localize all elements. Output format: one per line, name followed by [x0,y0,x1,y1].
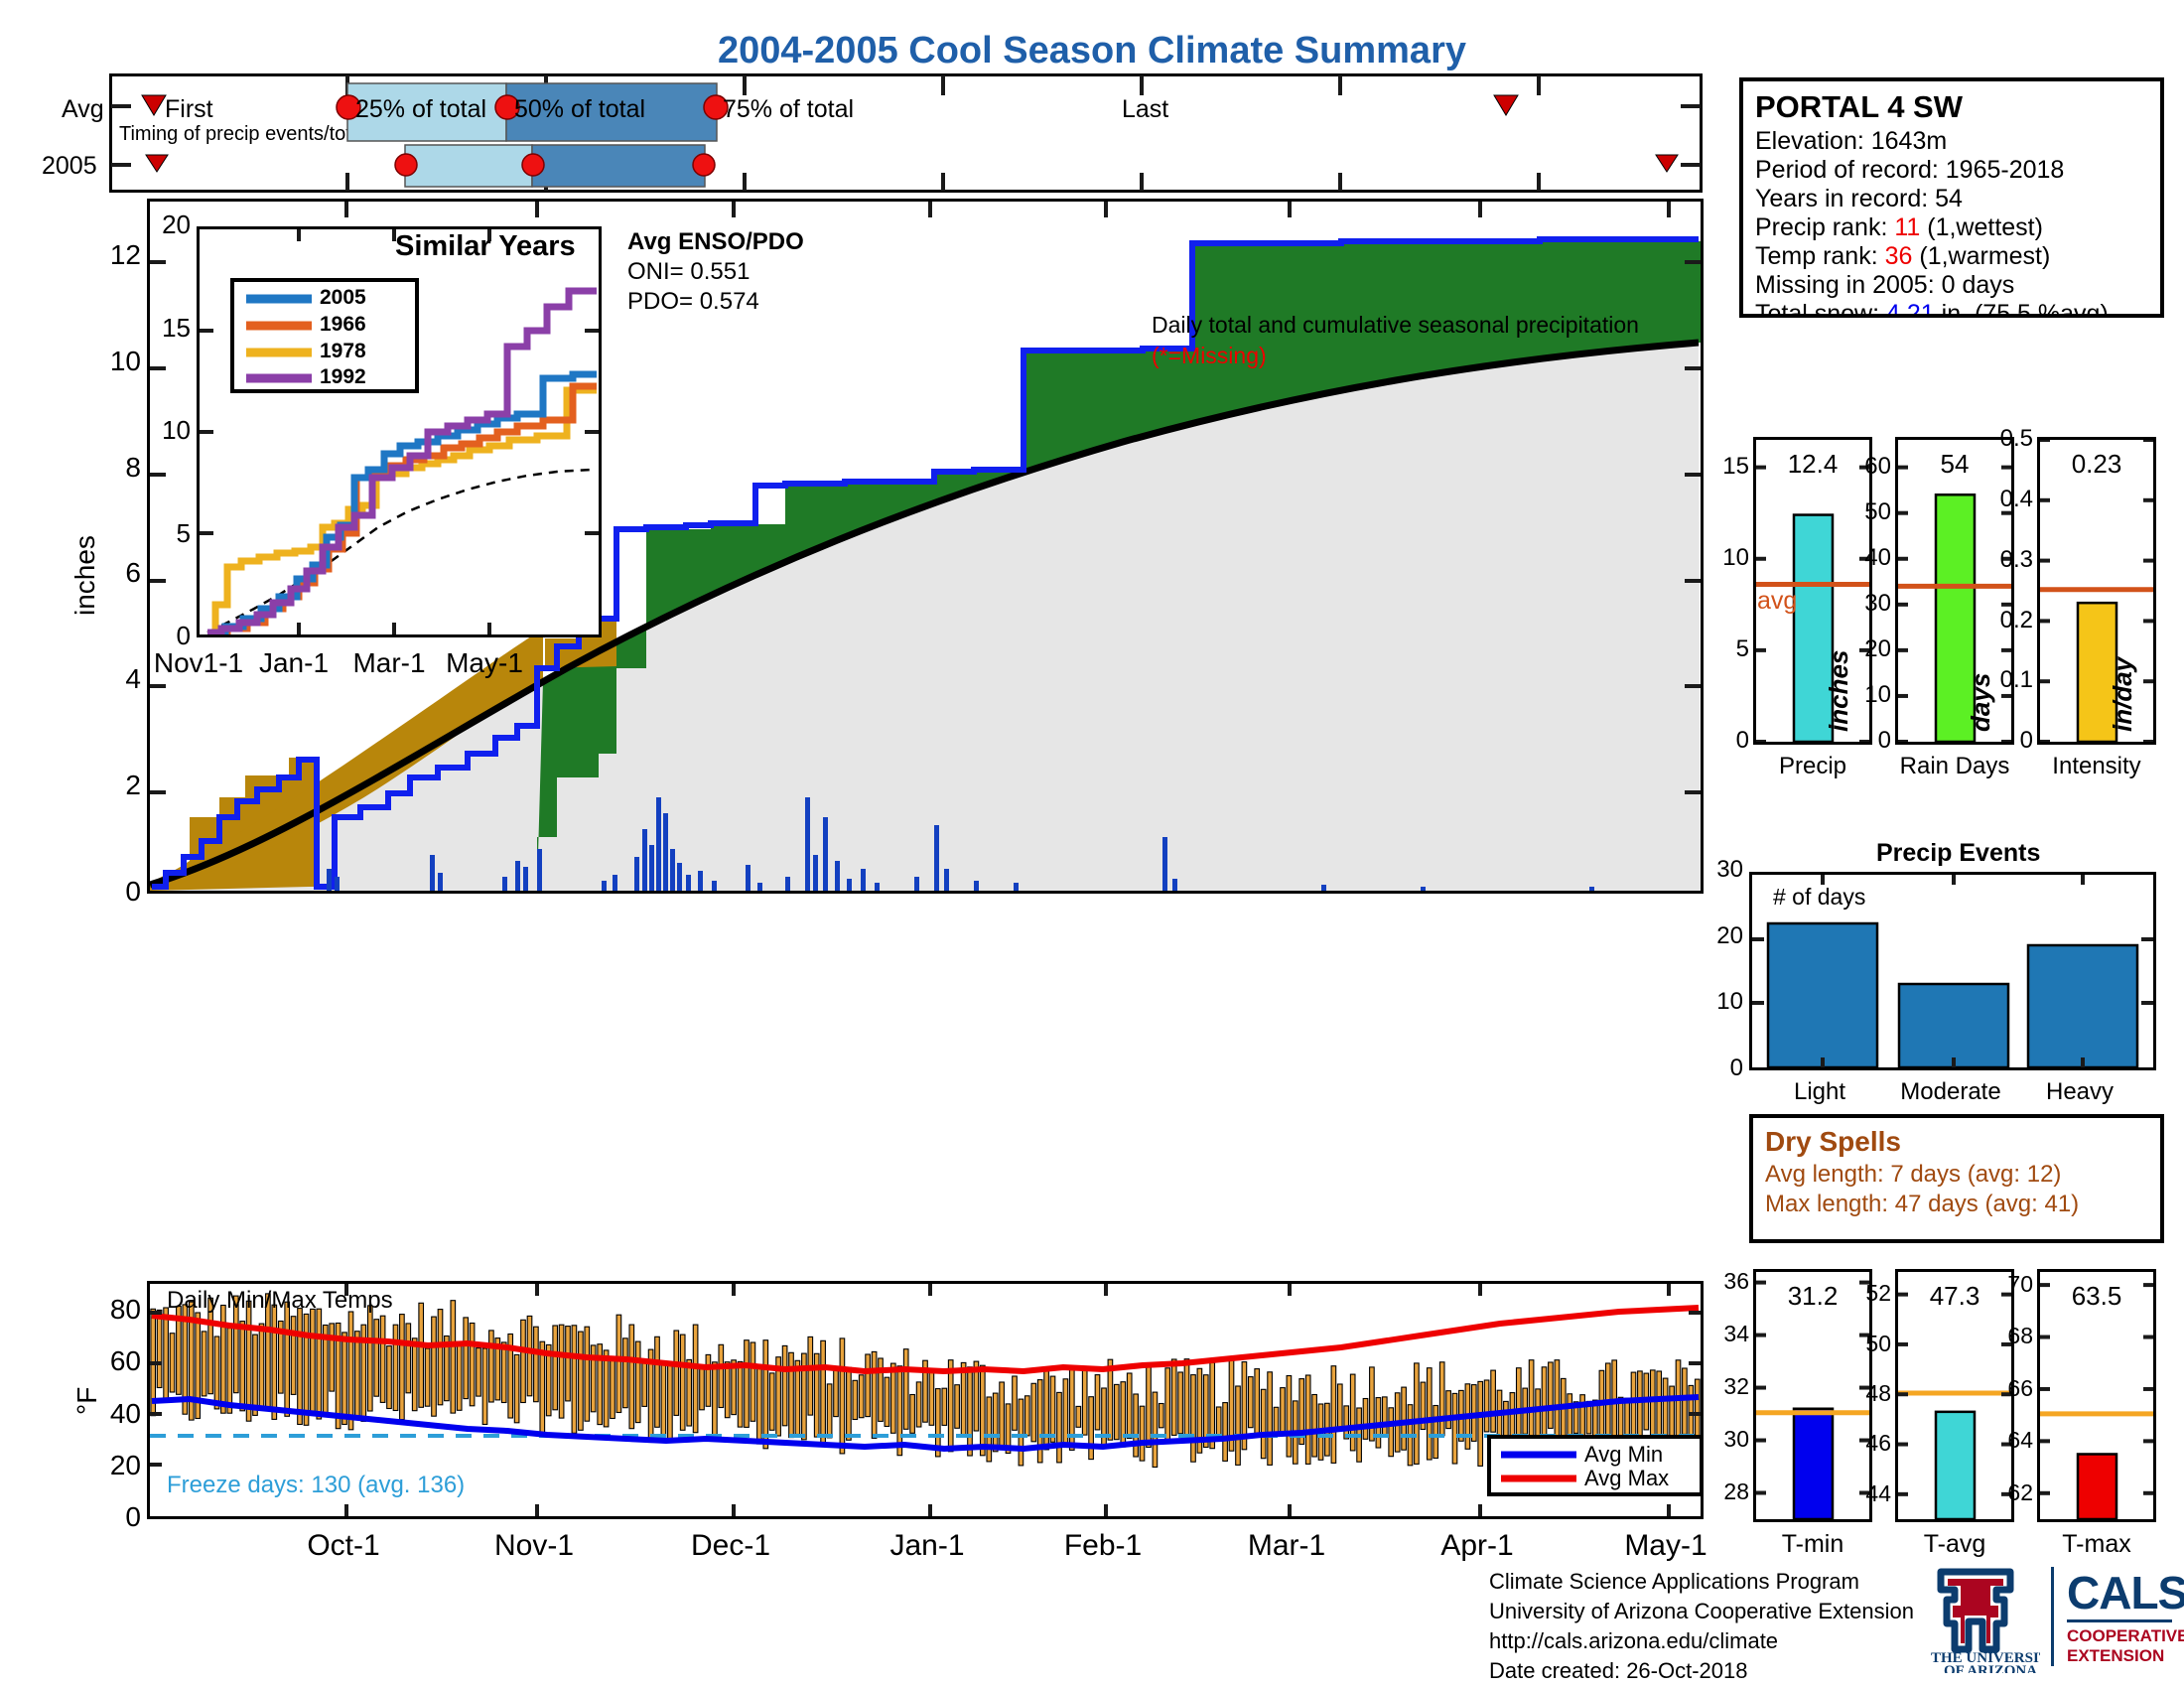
daily-temp-range-bar [393,1325,398,1410]
dry-spells-max: Max length: 47 days (avg: 41) [1765,1190,2160,1219]
daily-temp-range-bar [1478,1381,1483,1466]
pe-ytick-10: 10 [1716,988,1743,1016]
daily-temp-range-bar [840,1338,845,1454]
mini-value-T-avg: 47.3 [1930,1281,1980,1312]
mini-bar [1936,1412,1975,1519]
mini-ytick-Intensity-0.4: 0.4 [2000,486,2033,513]
station-line-value: 36 [1885,242,1913,270]
temp-legend: Avg Min Avg Max [1487,1435,1704,1496]
mini-category-T-max: T-max [2062,1530,2130,1559]
daily-temp-range-bar [635,1341,640,1423]
enso-oni-value: 0.551 [690,258,750,285]
station-name: PORTAL 4 SW [1755,89,2160,125]
footer-line-2[interactable]: http://cals.arizona.edu/climate [1489,1626,1914,1656]
xtick-Feb-1: Feb-1 [1064,1529,1142,1563]
inset-xtick-Jan-1: Jan-1 [259,647,329,679]
legend-label-1978: 1978 [320,340,366,363]
daily-temp-range-bar [1268,1372,1273,1466]
main-ytick-6: 6 [125,557,141,589]
mini-ytick-T-min-36: 36 [1723,1268,1749,1295]
daily-temp-range-bar [457,1341,462,1410]
legend-label-1966: 1966 [320,313,366,337]
daily-temp-range-bar [611,1357,615,1419]
main-chart-annotation: Daily total and cumulative seasonal prec… [1152,312,1639,339]
daily-temp-range-bar [1370,1367,1375,1441]
mini-value-Intensity: 0.23 [2072,449,2122,480]
dry-spells-avg: Avg length: 7 days (avg: 12) [1765,1160,2160,1190]
timing-row-label-avg: Avg [62,95,104,124]
daily-temp-range-bar [1089,1397,1094,1460]
daily-temp-range-bar [1312,1395,1317,1458]
daily-temp-range-bar [1127,1373,1132,1439]
daily-temp-range-bar [1338,1384,1343,1430]
timing-label-q25: 25% of total [355,95,486,124]
mini-ytick-T-avg-44: 44 [1865,1480,1891,1507]
footer-line-3: Date created: 26-Oct-2018 [1489,1656,1914,1686]
inset-ytick-10: 10 [162,415,191,446]
daily-temp-range-bar [240,1322,245,1411]
dry-spells-title: Dry Spells [1765,1126,2160,1158]
daily-temp-range-bar [1446,1391,1451,1429]
daily-temp-range-bar [987,1397,992,1462]
mini-bar [2078,1454,2116,1519]
mini-value-T-min: 31.2 [1788,1281,1839,1312]
station-line-3: Precip rank: 11 (1,wettest) [1755,213,2160,242]
main-ytick-4: 4 [125,663,141,695]
daily-temp-range-bar [298,1309,303,1425]
daily-temp-range-bar [477,1348,481,1397]
dry-spells-box: Dry Spells Avg length: 7 days (avg: 12) … [1749,1114,2164,1243]
daily-temp-range-bar [942,1388,947,1425]
enso-pdo: PDO= 0.574 [627,288,759,316]
daily-temp-range-bar [1415,1363,1420,1465]
daily-temp-range-bar [1076,1406,1081,1427]
daily-temp-range-bar [1095,1375,1100,1430]
daily-temp-range-bar [425,1348,430,1406]
daily-temp-range-bar [757,1364,762,1444]
daily-temp-range-bar [1383,1397,1388,1436]
temp-ytick-60: 60 [110,1345,141,1377]
pe-ytick-30: 30 [1716,856,1743,884]
mini-ytick-T-avg-46: 46 [1865,1430,1891,1457]
xtick-May-1: May-1 [1624,1529,1706,1563]
daily-temp-range-bar [719,1344,724,1407]
mini-category-T-avg: T-avg [1924,1530,1986,1559]
daily-temp-range-bar [885,1377,889,1426]
daily-temp-range-bar [157,1310,162,1387]
mini-ytick-Rain Days-10: 10 [1864,681,1891,709]
mini-category-T-min: T-min [1782,1530,1844,1559]
station-line-suffix: (1,warmest) [1912,242,2050,270]
inset-ytick-20: 20 [162,210,191,240]
mini-ytick-Precip-10: 10 [1722,544,1749,572]
mini-category-Precip: Precip [1779,753,1846,780]
enso-title: Avg ENSO/PDO [627,228,804,256]
mini-ytick-T-avg-50: 50 [1865,1331,1891,1357]
daily-temp-range-bar [789,1352,794,1437]
logo-divider [2051,1567,2054,1666]
main-ytick-10: 10 [110,346,141,377]
timing-label-q50: 50% of total [514,95,645,124]
xtick-Apr-1: Apr-1 [1440,1529,1513,1563]
mini-unit-inches: inches [1824,650,1854,732]
mini-ytick-T-min-32: 32 [1723,1373,1749,1400]
daily-temp-range-bar [616,1315,621,1412]
daily-temp-range-bar [642,1359,647,1406]
pe-xtick-Light: Light [1794,1078,1845,1106]
daily-temp-range-bar [687,1359,692,1426]
mini-ytick-Rain Days-40: 40 [1864,544,1891,572]
footer-line-1: University of Arizona Cooperative Extens… [1489,1597,1914,1626]
daily-temp-range-bar [1165,1368,1170,1444]
station-info-box: PORTAL 4 SW Elevation: 1643mPeriod of re… [1739,77,2164,318]
daily-temp-range-bar [1236,1386,1241,1465]
daily-temp-range-bar [680,1335,685,1430]
main-ytick-12: 12 [110,239,141,271]
xtick-Mar-1: Mar-1 [1248,1529,1325,1563]
mini-ytick-Precip-15: 15 [1722,453,1749,481]
daily-temp-range-bar [623,1338,628,1408]
daily-temp-range-bar [827,1384,832,1438]
mini-ytick-T-max-70: 70 [2007,1271,2033,1298]
daily-temp-range-bar [438,1310,443,1405]
mini-panel-intensity [2037,437,2156,745]
daily-temp-range-bar [629,1325,634,1429]
daily-temp-range-bar [259,1324,264,1408]
daily-temp-range-bar [400,1315,405,1420]
daily-temp-range-bar [470,1324,475,1406]
timing-graphics [109,73,1703,193]
daily-temp-range-bar [725,1362,730,1418]
bar-light [1768,923,1877,1067]
daily-temp-range-bar [482,1348,487,1425]
daily-temp-range-bar [1191,1375,1196,1463]
footer-line-0: Climate Science Applications Program [1489,1567,1914,1597]
station-line-0: Elevation: 1643m [1755,127,2160,156]
daily-temp-range-bar [246,1301,251,1421]
inset-xtick-Mar-1: Mar-1 [352,647,425,679]
daily-temp-range-bar [661,1363,666,1438]
station-line-value: 1965-2018 [1946,156,2065,184]
daily-temp-range-bar [968,1367,973,1456]
daily-temp-range-bar [285,1302,290,1416]
daily-temp-range-bar [521,1320,526,1402]
daily-temp-range-bar [872,1351,877,1438]
daily-temp-range-bar [910,1395,915,1434]
mini-category-Intensity: Intensity [2052,753,2140,780]
station-line-6: Total snow: 4.21 in. (75.5 %avg) [1755,300,2160,318]
daily-temp-range-bar [1050,1376,1055,1442]
daily-temp-range-bar [355,1332,360,1419]
daily-temp-range-bar [961,1362,966,1435]
mini-ytick-Intensity-0.3: 0.3 [2000,546,2033,574]
avg-marker-label: avg [1757,587,1797,616]
daily-temp-range-bar [451,1301,456,1413]
xtick-Nov-1: Nov-1 [494,1529,574,1563]
daily-temp-range-bar [1261,1389,1266,1458]
daily-temp-range-bar [1249,1377,1254,1428]
daily-temp-range-bar [738,1361,743,1427]
station-line-label: Temp rank: [1755,242,1885,270]
pe-xtick-Moderate: Moderate [1900,1078,2000,1106]
mini-unit-days: days [1966,673,1996,732]
mini-ytick-T-avg-48: 48 [1865,1380,1891,1407]
daily-temp-range-bar [1549,1362,1554,1428]
daily-temp-range-bar [1102,1388,1107,1449]
daily-temp-range-bar [317,1309,322,1419]
daily-temp-range-bar [1402,1387,1407,1450]
cals-logo-line1: COOPERATIVE [2067,1626,2184,1646]
daily-temp-range-bar [1153,1392,1158,1467]
daily-temp-range-bar [903,1349,908,1430]
mini-ytick-T-min-30: 30 [1723,1426,1749,1453]
mini-ytick-T-max-64: 64 [2007,1427,2033,1454]
mini-ytick-Precip-5: 5 [1736,635,1749,663]
main-ytick-2: 2 [125,770,141,801]
daily-temp-range-bar [1057,1392,1062,1463]
pe-ytick-0: 0 [1730,1055,1743,1082]
daily-temp-range-bar [1115,1384,1120,1439]
daily-temp-range-bar [808,1336,813,1415]
mini-ytick-T-max-62: 62 [2007,1479,2033,1506]
daily-temp-range-bar [1013,1376,1018,1430]
mini-ytick-T-max-66: 66 [2007,1375,2033,1402]
mini-ytick-Rain Days-60: 60 [1864,453,1891,481]
daily-temp-bars [151,1294,1700,1468]
station-line-value: 0 days [1942,271,2015,299]
timing-row-label-2005: 2005 [42,152,97,181]
station-line-label: Years in record: [1755,185,1935,212]
daily-temp-range-bar [272,1305,277,1419]
daily-temp-range-bar [1689,1385,1694,1437]
inset-xtick-May-1: May-1 [446,647,523,679]
mini-ytick-T-max-68: 68 [2007,1323,2033,1349]
mini-ytick-T-avg-52: 52 [1865,1280,1891,1307]
pe-xtick-Heavy: Heavy [2046,1078,2114,1106]
daily-temp-range-bar [1025,1396,1030,1436]
daily-temp-range-bar [221,1306,226,1414]
daily-temp-range-bar [330,1324,335,1391]
station-line-suffix: (1,wettest) [1920,213,2043,241]
mini-ytick-Intensity-0.1: 0.1 [2000,666,2033,694]
daily-temp-range-bar [559,1325,564,1418]
station-line-value: 11 [1894,213,1920,241]
daily-temp-range-bar [464,1318,469,1399]
daily-temp-range-bar [1171,1359,1176,1435]
station-line-value: 4.21 [1886,300,1935,318]
daily-temp-range-bar [253,1335,258,1415]
inset-ytick-15: 15 [162,313,191,344]
mini-ytick-T-min-28: 28 [1723,1478,1749,1505]
temp-legend-label-min: Avg Min [1584,1442,1663,1468]
daily-temp-range-bar [311,1309,316,1413]
daily-temp-range-bar [202,1332,206,1396]
timing-label-last: Last [1122,95,1168,124]
daily-temp-range-bar [1274,1407,1279,1433]
mini-category-Rain Days: Rain Days [1900,753,2010,780]
station-line-1: Period of record: 1965-2018 [1755,156,2160,185]
daily-temp-range-bar [1223,1403,1228,1462]
daily-temp-range-bar [993,1393,998,1452]
inset-title: Similar Years [395,230,576,263]
daily-temp-range-bar [1082,1368,1087,1435]
daily-temp-range-bar [693,1325,698,1433]
daily-temp-range-bar [891,1363,896,1433]
mini-ytick-Rain Days-0: 0 [1878,727,1891,755]
station-line-label: Elevation: [1755,127,1871,155]
daily-temp-range-bar [489,1331,494,1402]
daily-temp-range-bar [674,1331,679,1415]
station-line-suffix: in. (75.5 %avg) [1935,300,2109,318]
station-line-value: 1643m [1871,127,1947,155]
main-chart-missing-note: (*=Missing) [1152,343,1267,369]
station-line-label: Period of record: [1755,156,1946,184]
daily-temp-range-bar [769,1373,774,1430]
daily-temp-range-bar [412,1338,417,1411]
daily-temp-range-bar [1019,1399,1024,1466]
daily-temp-range-bar [655,1336,660,1427]
daily-temp-range-bar [866,1354,871,1417]
station-line-value: 54 [1935,185,1963,212]
main-chart-ylabel: inches [69,535,101,616]
daily-temp-range-bar [955,1385,960,1429]
daily-temp-range-bar [1439,1362,1444,1436]
precip-events-ylabel: # of days [1773,884,1865,911]
daily-temp-range-bar [1070,1369,1075,1450]
daily-temp-range-bar [1178,1372,1183,1434]
legend-label-2005: 2005 [320,286,366,310]
daily-temp-range-bar [1363,1399,1368,1440]
daily-temp-range-bar [1350,1374,1355,1451]
daily-temp-range-bar [380,1316,385,1402]
mini-ytick-Rain Days-20: 20 [1864,635,1891,663]
daily-temp-range-bar [387,1346,392,1409]
enso-oni: ONI= 0.551 [627,258,750,286]
temp-ytick-80: 80 [110,1294,141,1326]
daily-temp-range-bar [604,1350,609,1427]
main-ytick-8: 8 [125,452,141,484]
station-line-label: Precip rank: [1755,213,1894,241]
daily-temp-range-bar [1491,1370,1496,1432]
mini-value-Precip: 12.4 [1788,449,1839,480]
cals-logo: CALS COOPERATIVE EXTENSION [2067,1569,2184,1666]
daily-temp-range-bar [1484,1380,1489,1432]
legend-label-1992: 1992 [320,365,366,389]
daily-temp-range-bar [853,1380,858,1419]
temp-panel-annotation: Daily Min/Max Temps [167,1287,393,1315]
daily-temp-range-bar [1389,1408,1394,1457]
main-ytick-0: 0 [125,876,141,908]
station-line-2: Years in record: 54 [1755,185,2160,213]
daily-temp-range-bar [227,1329,232,1414]
temp-ytick-0: 0 [125,1501,141,1533]
daily-temp-range-bar [1676,1360,1681,1447]
mini-ytick-Rain Days-50: 50 [1864,498,1891,526]
daily-temp-range-bar [745,1340,750,1428]
temp-panel-ylabel: °F [71,1387,103,1415]
daily-temp-range-bar [1140,1406,1145,1461]
daily-temp-range-bar [929,1371,934,1425]
daily-temp-range-bar [1000,1382,1005,1446]
timing-label-q75: 75% of total [723,95,854,124]
daily-temp-range-bar [981,1365,986,1456]
temp-ytick-40: 40 [110,1398,141,1430]
station-line-5: Missing in 2005: 0 days [1755,271,2160,300]
daily-temp-range-bar [419,1303,424,1407]
daily-temp-range-bar [1184,1359,1189,1442]
daily-temp-range-bar [1134,1394,1139,1457]
daily-temp-range-bar [1147,1365,1152,1447]
mini-value-Rain Days: 54 [1941,449,1970,480]
daily-temp-range-bar [579,1332,584,1430]
precip-events-title: Precip Events [1876,839,2040,868]
daily-temp-range-bar [834,1367,839,1417]
page-title: 2004-2005 Cool Season Climate Summary [0,30,2184,72]
cals-logo-line2: EXTENSION [2067,1646,2184,1666]
station-line-label: Missing in 2005: [1755,271,1942,299]
station-line-4: Temp rank: 36 (1,warmest) [1755,242,2160,271]
mini-ytick-Intensity-0.2: 0.2 [2000,607,2033,634]
station-line-label: Total snow: [1755,300,1886,318]
mini-ytick-Rain Days-30: 30 [1864,590,1891,618]
daily-temp-range-bar [1683,1368,1688,1434]
mini-bar [1794,1409,1833,1519]
daily-temp-range-bar [1287,1376,1292,1458]
mini-ytick-Intensity-0: 0 [2020,727,2033,755]
daily-temp-range-bar [406,1324,411,1393]
daily-temp-range-bar [585,1327,590,1421]
ua-logo-line2: OF ARIZONA [1944,1663,2037,1673]
daily-temp-range-bar [501,1342,506,1403]
temp-legend-label-max: Avg Max [1584,1466,1669,1491]
mini-ytick-T-min-34: 34 [1723,1321,1749,1347]
daily-temp-range-bar [782,1345,787,1425]
cals-underline [2067,1619,2172,1622]
daily-temp-range-bar [916,1382,921,1427]
bar-moderate [1899,984,2008,1067]
freeze-days-text: Freeze days: 130 (avg. 136) [167,1472,465,1499]
mini-panel-rain-days [1895,437,2014,745]
daily-temp-range-bar [1255,1369,1260,1437]
daily-temp-range-bar [1305,1375,1310,1464]
temp-ytick-20: 20 [110,1450,141,1481]
daily-temp-range-bar [534,1327,539,1402]
daily-temp-range-bar [1031,1383,1036,1442]
cals-logo-name: CALS [2067,1569,2184,1617]
enso-pdo-label: PDO= [627,288,700,315]
bar-heavy [2028,945,2137,1067]
daily-temp-range-bar [572,1326,577,1434]
daily-temp-range-bar [1160,1404,1164,1428]
daily-temp-range-bar [553,1326,558,1410]
enso-pdo-value: 0.574 [700,288,759,315]
daily-temp-range-bar [374,1320,379,1397]
daily-temp-range-bar [291,1317,296,1395]
daily-temp-range-bar [1331,1366,1336,1464]
daily-temp-range-bar [847,1367,852,1440]
daily-temp-range-bar [342,1333,347,1425]
mini-ytick-Precip-0: 0 [1736,727,1749,755]
mini-ytick-Intensity-0.5: 0.5 [2000,425,2033,453]
daily-temp-range-bar [668,1362,673,1439]
mini-unit-in/day: in/day [2108,657,2138,732]
enso-oni-label: ONI= [627,258,690,285]
station-detail-list: Elevation: 1643mPeriod of record: 1965-2… [1755,127,2160,318]
timing-label-first: First [165,95,213,124]
daily-temp-range-bar [1281,1388,1286,1433]
inset-xtick-Nov1-1: Nov1-1 [154,647,243,679]
mini-value-T-max: 63.5 [2072,1281,2122,1312]
